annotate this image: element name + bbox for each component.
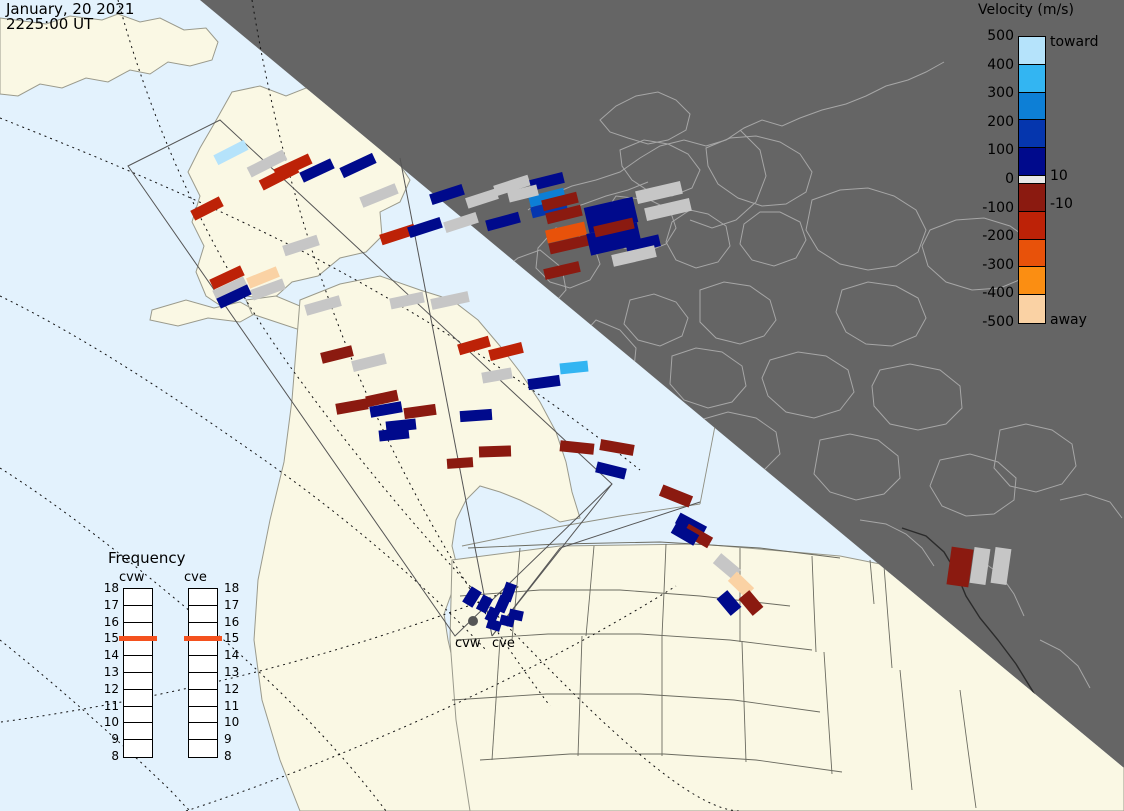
frequency-tick-label: 14 (224, 648, 239, 662)
frequency-cell (189, 690, 217, 707)
frequency-marker (184, 636, 222, 641)
colorbar-tick-label: -100 (982, 200, 1014, 216)
frequency-cell (124, 707, 152, 724)
colorbar-segment (1019, 176, 1045, 184)
superdarn-map-figure: January, 20 2021 2225:00 UT Velocity (m/… (0, 0, 1124, 811)
colorbar-segment (1019, 212, 1045, 240)
frequency-cell (189, 707, 217, 724)
colorbar-side-label: toward (1050, 34, 1098, 50)
colorbar-tick-label: 300 (987, 85, 1014, 101)
colorbar-tick-label: -400 (982, 285, 1014, 301)
colorbar-tick-label: 100 (987, 142, 1014, 158)
frequency-tick-label: 10 (224, 715, 239, 729)
frequency-tick-label: 9 (224, 732, 232, 746)
frequency-column-cve (188, 588, 218, 758)
frequency-cell (189, 723, 217, 740)
frequency-legend-title: Frequency (108, 549, 186, 567)
frequency-tick-label: 12 (224, 682, 239, 696)
frequency-cell (124, 740, 152, 757)
radar-site-label-cve: cve (492, 636, 515, 651)
frequency-cell (124, 589, 152, 606)
radar-site-marker (468, 616, 478, 626)
colorbar-tick-label: 200 (987, 114, 1014, 130)
colorbar-segment (1019, 37, 1045, 65)
frequency-tick-label: 8 (224, 749, 232, 763)
frequency-tick-label: 13 (99, 665, 119, 679)
frequency-tick-label: 15 (224, 631, 239, 645)
frequency-tick-label: 8 (99, 749, 119, 763)
velocity-cell (447, 457, 474, 469)
frequency-cell (189, 589, 217, 606)
colorbar-segment (1019, 240, 1045, 268)
colorbar-segment (1019, 267, 1045, 295)
velocity-colorbar (1018, 36, 1046, 324)
frequency-cell (124, 673, 152, 690)
colorbar-side-label: away (1050, 312, 1087, 328)
colorbar-tick-label: -200 (982, 228, 1014, 244)
frequency-tick-label: 13 (224, 665, 239, 679)
colorbar-tick-label: 0 (1005, 171, 1014, 187)
frequency-column-name: cvw (119, 570, 144, 585)
frequency-cell (189, 740, 217, 757)
colorbar-segment (1019, 120, 1045, 148)
frequency-tick-label: 16 (99, 615, 119, 629)
colorbar-tick-label: -500 (982, 314, 1014, 330)
frequency-marker (119, 636, 157, 641)
frequency-cell (124, 656, 152, 673)
frequency-tick-label: 17 (99, 598, 119, 612)
frequency-tick-label: 18 (99, 581, 119, 595)
frequency-cell (124, 606, 152, 623)
colorbar-segment (1019, 93, 1045, 121)
colorbar-segment (1019, 65, 1045, 93)
frequency-tick-label: 9 (99, 732, 119, 746)
frequency-tick-label: 14 (99, 648, 119, 662)
frequency-column-cvw (123, 588, 153, 758)
map-canvas (0, 0, 1124, 811)
frequency-tick-label: 18 (224, 581, 239, 595)
frequency-cell (124, 690, 152, 707)
frequency-tick-label: 12 (99, 682, 119, 696)
frequency-cell (124, 639, 152, 656)
frequency-cell (124, 723, 152, 740)
colorbar-tick-label: -300 (982, 257, 1014, 273)
colorbar-segment (1019, 148, 1045, 176)
frequency-cell (189, 606, 217, 623)
frequency-column-name: cve (184, 570, 207, 585)
velocity-cell (479, 445, 511, 457)
colorbar-side-labels: toward10-10away (1050, 36, 1124, 324)
frequency-cell (189, 673, 217, 690)
frequency-tick-label: 11 (224, 699, 239, 713)
frequency-tick-label: 16 (224, 615, 239, 629)
radar-site-label-cvw: cvw (455, 636, 480, 651)
colorbar-tick-label: 500 (987, 28, 1014, 44)
frequency-cell (189, 656, 217, 673)
title-time: 2225:00 UT (6, 15, 93, 33)
colorbar-segment (1019, 295, 1045, 323)
colorbar-title: Velocity (m/s) (978, 2, 1074, 18)
frequency-tick-label: 11 (99, 699, 119, 713)
frequency-cell (189, 639, 217, 656)
timestamp-title: January, 20 2021 2225:00 UT (6, 2, 134, 32)
colorbar-side-label: -10 (1050, 196, 1073, 212)
colorbar-segment (1019, 184, 1045, 212)
colorbar-tick-label: 400 (987, 57, 1014, 73)
colorbar-side-label: 10 (1050, 168, 1068, 184)
velocity-cell (460, 409, 493, 422)
frequency-tick-label: 10 (99, 715, 119, 729)
frequency-tick-label: 17 (224, 598, 239, 612)
frequency-tick-label: 15 (99, 631, 119, 645)
colorbar-tick-labels: 5004003002001000-100-200-300-400-500 (958, 36, 1014, 324)
